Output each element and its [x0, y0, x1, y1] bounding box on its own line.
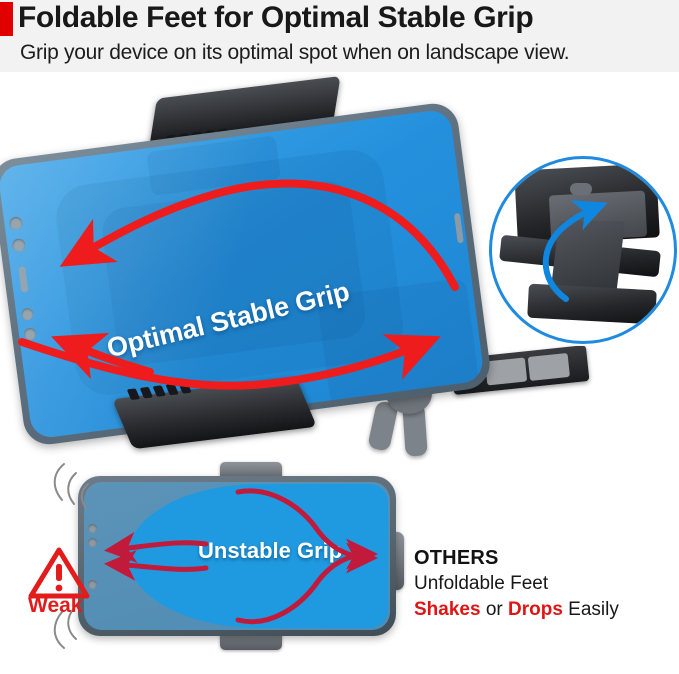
others-word-easily: Easily [563, 599, 619, 620]
red-accent-bar [0, 2, 13, 36]
others-word-or: or [481, 599, 508, 620]
foot-lower-rail [527, 284, 657, 325]
infographic-canvas: Foldable Feet for Optimal Stable Grip Gr… [0, 0, 679, 674]
others-line-unfoldable-feet: Unfoldable Feet [414, 571, 672, 597]
others-word-drops: Drops [508, 599, 563, 620]
others-title: OTHERS [414, 546, 672, 571]
page-subtitle: Grip your device on its optimal spot whe… [20, 38, 670, 68]
page-title: Foldable Feet for Optimal Stable Grip [18, 0, 673, 38]
warning-triangle-icon [28, 546, 90, 600]
vent-clip-pad-2 [528, 353, 570, 381]
others-line-shakes-drops: Shakes or Drops Easily [414, 597, 672, 623]
camera-lens-icon-1 [88, 524, 97, 533]
bottom-scene: Unstable Grip [0, 454, 679, 674]
unstable-grip-label: Unstable Grip [198, 538, 418, 564]
foldable-foot-inset [489, 156, 677, 344]
foot-notch [570, 183, 592, 195]
others-word-shakes: Shakes [414, 599, 481, 620]
weak-label: Weak [28, 594, 138, 618]
top-scene: Optimal Stable Grip [0, 72, 679, 462]
others-text-block: OTHERS Unfoldable Feet Shakes or Drops E… [414, 546, 672, 623]
artwork-stage: Optimal Stable Grip [0, 72, 679, 674]
header-band: Foldable Feet for Optimal Stable Grip Gr… [0, 0, 679, 72]
mount-clamp-bottom [112, 377, 317, 449]
